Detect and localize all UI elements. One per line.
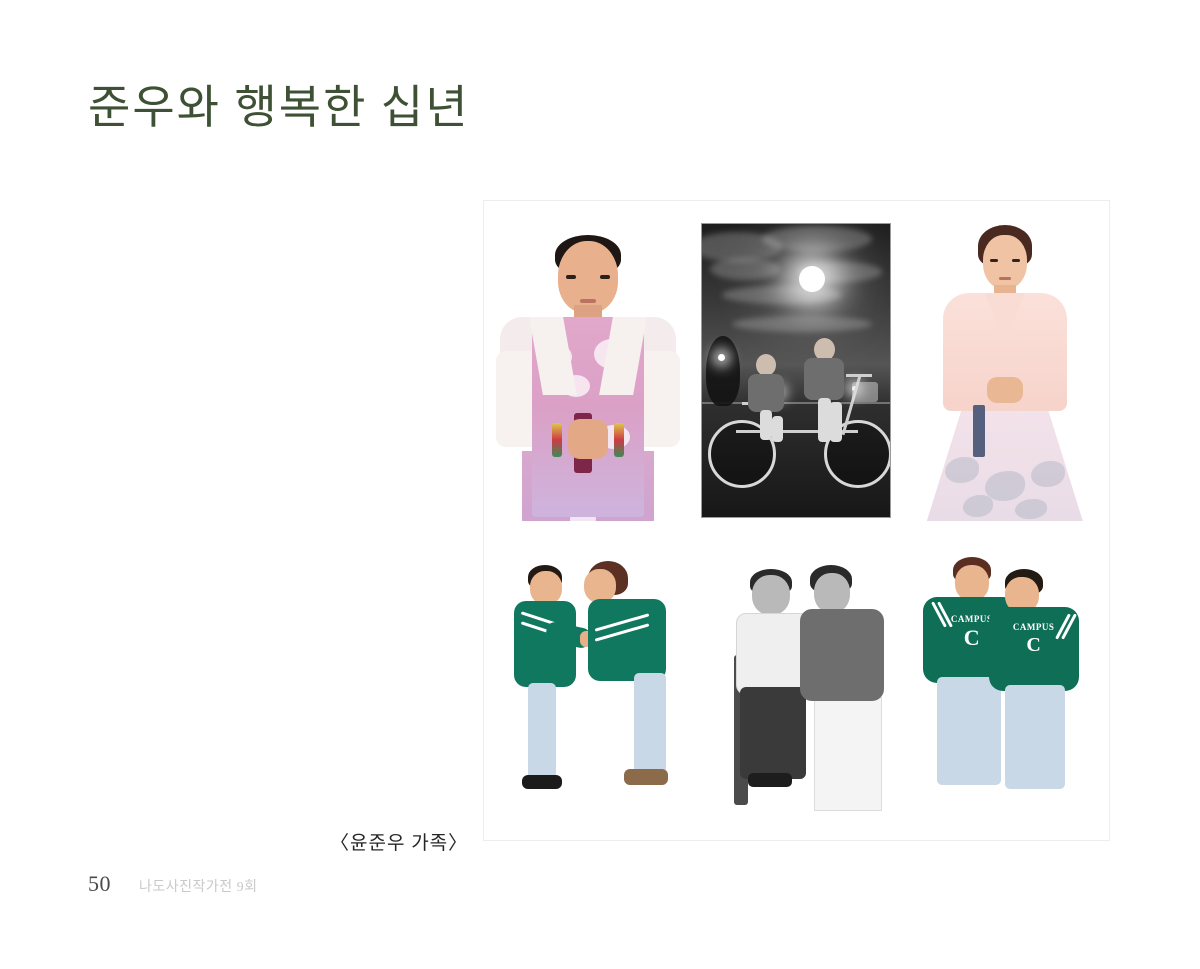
- bicycle-handlebar-front: [846, 374, 872, 377]
- mother-jeans: [634, 673, 666, 773]
- son-jeans: [1005, 685, 1065, 789]
- hanbok-cuff-left: [552, 423, 562, 457]
- photo-top-center[interactable]: [692, 201, 900, 521]
- boy-hands: [568, 419, 608, 459]
- mother-white-skirt: [814, 697, 882, 811]
- sweatshirt-letter-c: C: [1019, 635, 1049, 655]
- mother-head-shape: [955, 565, 989, 601]
- photo-bottom-left[interactable]: [484, 521, 692, 841]
- skirt-petal: [963, 495, 993, 517]
- bw-night-bicycle-photo: [701, 223, 891, 518]
- photo-top-left[interactable]: [484, 201, 692, 521]
- cloud-shape: [722, 286, 842, 304]
- boy-hanbok-pants: [740, 687, 806, 779]
- exhibition-name: 나도사진작가전 9회: [139, 876, 258, 896]
- rider-head-rear: [756, 354, 776, 376]
- boy-eye-left: [566, 275, 576, 279]
- woman-eye-right: [1012, 259, 1020, 262]
- boy-mouth: [580, 299, 596, 303]
- rider-body-rear: [748, 374, 784, 412]
- mother-hanbok-top: [800, 609, 884, 701]
- skirt-petal: [1031, 461, 1065, 487]
- sweatshirt-text-campus: CAMPUS: [1005, 623, 1063, 632]
- woman-hands: [987, 377, 1023, 403]
- cloud-shape: [710, 258, 780, 280]
- cloud-shape: [732, 316, 872, 332]
- page-footer: 50 나도사진작가전 9회: [88, 871, 258, 897]
- boy-head-shape: [530, 571, 562, 605]
- skirt-petal: [985, 471, 1025, 501]
- mother-shoe: [624, 769, 668, 785]
- rider-leg-rear: [772, 416, 783, 442]
- boy-shoe: [522, 775, 562, 789]
- cloud-shape: [762, 226, 872, 252]
- woman-eye-left: [990, 259, 998, 262]
- photo-bottom-center[interactable]: [692, 521, 900, 841]
- rider-leg-rear: [760, 410, 772, 440]
- photo-grid: CAMPUS C CAMPUS C: [484, 201, 1109, 840]
- photo-bottom-right[interactable]: CAMPUS C CAMPUS C: [901, 521, 1109, 841]
- hanbok-cuff-right: [614, 423, 624, 457]
- skirt-petal: [945, 457, 979, 483]
- sweatshirt-letter-c: C: [957, 627, 987, 649]
- hanbok-ribbon: [973, 405, 985, 457]
- skirt-petal: [1015, 499, 1047, 519]
- woman-head-shape: [983, 235, 1027, 289]
- boy-hanbok-top: [736, 613, 810, 695]
- bicycle-basket: [852, 382, 878, 402]
- boy-shoe: [748, 773, 792, 787]
- mother-head-shape: [584, 569, 616, 603]
- photo-gallery-frame: CAMPUS C CAMPUS C: [483, 200, 1110, 841]
- rider-leg-front: [830, 402, 842, 442]
- moon-flare: [799, 266, 825, 292]
- woman-mouth: [999, 277, 1011, 280]
- hanbok-chima-skirt: [927, 401, 1083, 521]
- tree-silhouette: [706, 336, 740, 406]
- boy-head-shape: [752, 575, 790, 615]
- photo-top-right[interactable]: [901, 201, 1109, 521]
- page-title: 준우와 행복한 십년: [88, 82, 470, 135]
- boy-eye-right: [600, 275, 610, 279]
- mother-head-shape: [814, 573, 850, 613]
- mother-jeans: [937, 677, 1001, 785]
- photo-caption: 〈윤준우 가족〉: [330, 828, 468, 855]
- boy-jeans: [528, 683, 556, 779]
- rider-body-front: [804, 358, 844, 400]
- page-number: 50: [88, 871, 111, 897]
